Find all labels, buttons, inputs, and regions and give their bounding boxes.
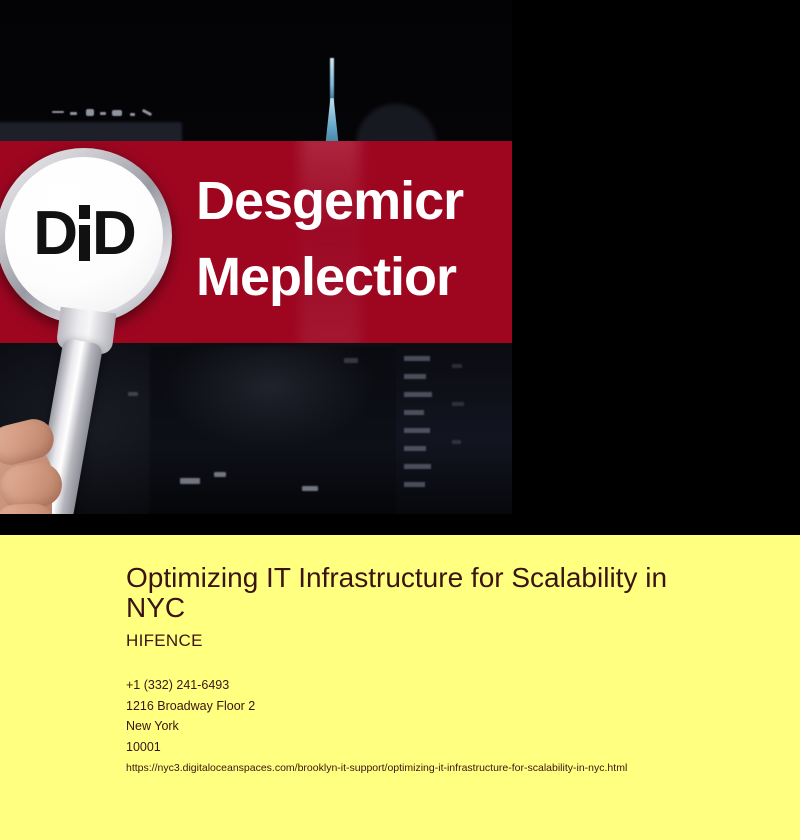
- banner-line-2: Meplectior: [196, 239, 512, 315]
- center-building: [150, 346, 400, 514]
- hero-photo: Desgemicr Meplectior DD: [0, 0, 512, 514]
- banner-text: Desgemicr Meplectior: [196, 163, 512, 315]
- lens-glass: DD: [5, 157, 163, 315]
- did-logo: DD: [33, 203, 135, 265]
- source-url-link[interactable]: https://nyc3.digitaloceanspaces.com/broo…: [126, 762, 627, 774]
- logo-letter-i: [76, 203, 92, 261]
- logo-letter-left: D: [33, 199, 76, 268]
- media-band: Desgemicr Meplectior DD: [0, 0, 800, 535]
- contact-details: +1 (332) 241-6493 1216 Broadway Floor 2 …: [126, 675, 255, 757]
- rooftop-lights: [52, 108, 158, 120]
- contact-city: New York: [126, 716, 255, 737]
- content-panel: Optimizing IT Infrastructure for Scalabi…: [0, 535, 800, 840]
- magnifying-glass-icon: DD: [0, 148, 176, 514]
- contact-postal-code: 10001: [126, 737, 255, 758]
- contact-street: 1216 Broadway Floor 2: [126, 696, 255, 717]
- brand-name: HIFENCE: [126, 631, 203, 651]
- hand-holding-magnifier: [0, 392, 106, 514]
- logo-letter-right: D: [92, 199, 135, 268]
- window-light: [344, 358, 358, 363]
- page-title: Optimizing IT Infrastructure for Scalabi…: [126, 563, 686, 623]
- window-light: [180, 478, 200, 484]
- right-tower: [396, 344, 512, 514]
- contact-phone[interactable]: +1 (332) 241-6493: [126, 675, 255, 696]
- lens-ring: DD: [0, 148, 172, 324]
- spire-needle: [330, 58, 334, 104]
- window-light: [302, 486, 318, 491]
- window-light: [214, 472, 226, 477]
- banner-line-1: Desgemicr: [196, 163, 512, 239]
